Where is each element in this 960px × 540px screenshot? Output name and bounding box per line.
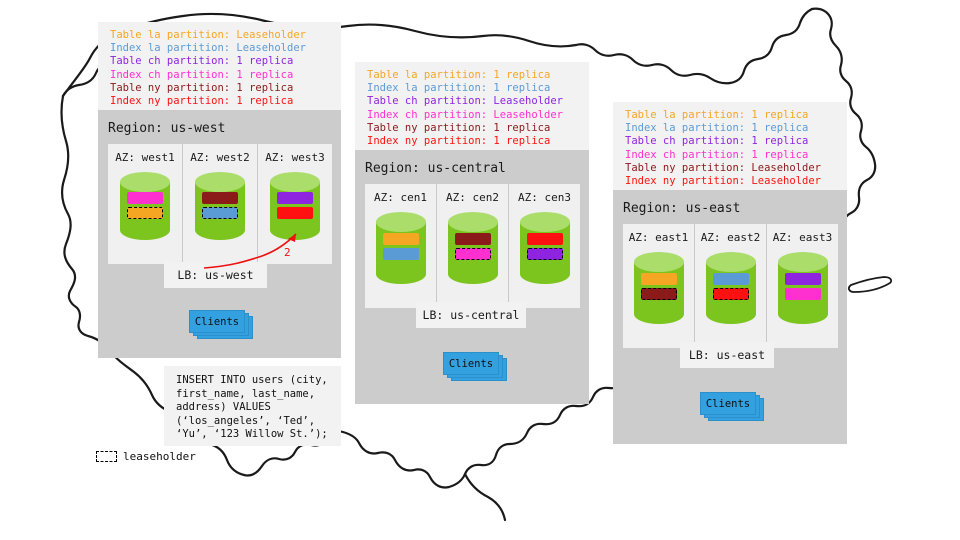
- partition-line: Table la partition: Leaseholder: [110, 29, 329, 42]
- db-node-east1[interactable]: [632, 250, 686, 326]
- legend-label: leaseholder: [123, 450, 196, 463]
- range-bar: [202, 207, 238, 219]
- arrow-step-label: 2: [284, 246, 291, 259]
- diagram-canvas: Table la partition: Leaseholder Index la…: [0, 0, 960, 540]
- az-cell-cen1[interactable]: AZ: cen1: [365, 184, 436, 308]
- az-container-us-west: AZ: west1 AZ: west2 AZ:: [108, 144, 332, 264]
- clients-us-central[interactable]: Clients: [443, 352, 503, 378]
- partition-line: Index ny partition: 1 replica: [110, 95, 329, 108]
- clients-us-west[interactable]: Clients: [189, 310, 249, 336]
- region-title-us-east: Region: us-east: [623, 201, 740, 216]
- partition-line: Table ch partition: 1 replica: [110, 55, 329, 68]
- partition-legend-us-west: Table la partition: Leaseholder Index la…: [98, 22, 341, 110]
- partition-line: Table ch partition: Leaseholder: [367, 95, 577, 108]
- database-cylinder-icon: [118, 170, 172, 242]
- lb-box-us-east[interactable]: LB: us-east: [680, 342, 774, 368]
- range-bar: [277, 207, 313, 219]
- az-cell-cen3[interactable]: AZ: cen3: [508, 184, 580, 308]
- range-bar: [455, 248, 491, 260]
- dashed-rectangle-icon: [96, 451, 117, 462]
- range-bar: [127, 192, 163, 204]
- sql-line: first_name, last_name,: [176, 388, 329, 402]
- az-cell-west1[interactable]: AZ: west1: [108, 144, 182, 264]
- az-container-us-central: AZ: cen1 AZ: cen2 AZ: ce: [365, 184, 580, 308]
- partition-line: Index ny partition: Leaseholder: [625, 175, 835, 188]
- sql-line: ‘Yu’, ‘123 Willow St.’);: [176, 428, 329, 442]
- partition-line: Index ch partition: Leaseholder: [367, 109, 577, 122]
- az-cell-east2[interactable]: AZ: east2: [694, 224, 766, 348]
- az-label: AZ: east3: [767, 231, 838, 244]
- partition-line: Table ch partition: 1 replica: [625, 135, 835, 148]
- az-label: AZ: west2: [183, 151, 257, 164]
- partition-line: Index la partition: Leaseholder: [110, 42, 329, 55]
- range-bar: [127, 207, 163, 219]
- region-title-us-central: Region: us-central: [365, 161, 506, 176]
- lb-box-us-central[interactable]: LB: us-central: [416, 302, 526, 328]
- partition-line: Index ch partition: 1 replica: [110, 69, 329, 82]
- sql-line: address) VALUES: [176, 401, 329, 415]
- leaseholder-legend: leaseholder: [96, 450, 196, 463]
- clients-card-front[interactable]: Clients: [700, 392, 756, 415]
- database-cylinder-icon: [193, 170, 247, 242]
- clients-us-east[interactable]: Clients: [700, 392, 760, 418]
- az-cell-west2[interactable]: AZ: west2: [182, 144, 257, 264]
- az-label: AZ: east2: [695, 231, 766, 244]
- partition-line: Index ch partition: 1 replica: [625, 149, 835, 162]
- partition-line: Index la partition: 1 replica: [625, 122, 835, 135]
- range-bar: [527, 248, 563, 260]
- az-cell-cen2[interactable]: AZ: cen2: [436, 184, 508, 308]
- range-bar: [641, 288, 677, 300]
- sql-line: INSERT INTO users (city,: [176, 374, 329, 388]
- range-bar: [785, 288, 821, 300]
- range-bar: [713, 273, 749, 285]
- range-bar: [383, 233, 419, 245]
- db-node-west3[interactable]: [268, 170, 322, 242]
- sql-statement-note: INSERT INTO users (city, first_name, las…: [164, 366, 341, 446]
- range-bar: [202, 192, 238, 204]
- db-node-west1[interactable]: [118, 170, 172, 242]
- db-node-cen1[interactable]: [374, 210, 428, 286]
- region-title-us-west: Region: us-west: [108, 121, 225, 136]
- lb-box-us-west[interactable]: LB: us-west: [164, 262, 267, 288]
- partition-line: Table ny partition: Leaseholder: [625, 162, 835, 175]
- az-label: AZ: west1: [108, 151, 182, 164]
- partition-line: Table ny partition: 1 replica: [110, 82, 329, 95]
- clients-card-front[interactable]: Clients: [189, 310, 245, 333]
- range-bar: [641, 273, 677, 285]
- range-bar: [277, 192, 313, 204]
- az-label: AZ: west3: [258, 151, 332, 164]
- range-bar: [713, 288, 749, 300]
- az-label: AZ: cen3: [509, 191, 580, 204]
- partition-line: Table ny partition: 1 replica: [367, 122, 577, 135]
- range-bar: [383, 248, 419, 260]
- az-label: AZ: east1: [623, 231, 694, 244]
- az-cell-east3[interactable]: AZ: east3: [766, 224, 838, 348]
- db-node-west2[interactable]: [193, 170, 247, 242]
- az-label: AZ: cen1: [365, 191, 436, 204]
- db-node-east3[interactable]: [776, 250, 830, 326]
- sql-line: (‘los_angeles’, ‘Ted’,: [176, 415, 329, 429]
- az-cell-west3[interactable]: AZ: west3: [257, 144, 332, 264]
- partition-line: Index la partition: 1 replica: [367, 82, 577, 95]
- partition-line: Table la partition: 1 replica: [367, 69, 577, 82]
- clients-card-front[interactable]: Clients: [443, 352, 499, 375]
- db-node-cen3[interactable]: [518, 210, 572, 286]
- az-container-us-east: AZ: east1 AZ: east2 AZ:: [623, 224, 838, 348]
- partition-legend-us-central: Table la partition: 1 replica Index la p…: [355, 62, 589, 150]
- database-cylinder-icon: [268, 170, 322, 242]
- partition-legend-us-east: Table la partition: 1 replica Index la p…: [613, 102, 847, 190]
- range-bar: [527, 233, 563, 245]
- db-node-cen2[interactable]: [446, 210, 500, 286]
- partition-line: Index ny partition: 1 replica: [367, 135, 577, 148]
- range-bar: [455, 233, 491, 245]
- db-node-east2[interactable]: [704, 250, 758, 326]
- az-label: AZ: cen2: [437, 191, 508, 204]
- az-cell-east1[interactable]: AZ: east1: [623, 224, 694, 348]
- partition-line: Table la partition: 1 replica: [625, 109, 835, 122]
- range-bar: [785, 273, 821, 285]
